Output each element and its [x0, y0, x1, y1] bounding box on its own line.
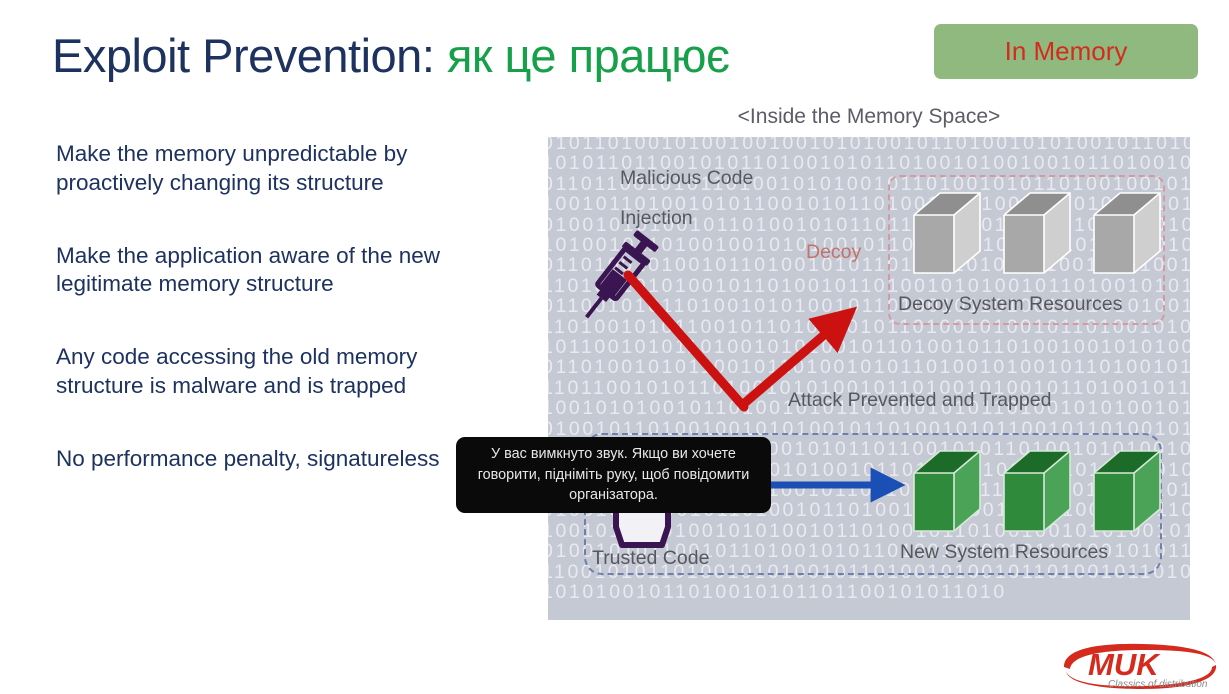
diagram-caption: <Inside the Memory Space> — [548, 105, 1190, 129]
muk-logo-text: MUK — [1088, 647, 1159, 683]
decoy-cube-icon — [1090, 189, 1164, 281]
new-resource-cube-icon — [1000, 447, 1074, 539]
label-trusted-code: Trusted Code — [592, 547, 709, 570]
new-resource-cube-icon — [1090, 447, 1164, 539]
label-decoy-system-resources: Decoy System Resources — [898, 293, 1122, 316]
label-new-system-resources: New System Resources — [900, 541, 1108, 564]
status-badge-label: In Memory — [1005, 36, 1128, 67]
label-decoy: Decoy — [806, 241, 861, 264]
decoy-cube-icon — [1000, 189, 1074, 281]
new-resources-cubes-group — [910, 447, 1164, 539]
muk-logo-tagline: Classics of distribution — [1108, 679, 1207, 690]
bullet-item: Make the application aware of the new le… — [56, 242, 506, 300]
bullet-item: Make the memory unpredictable by proacti… — [56, 140, 506, 198]
bullet-item: No performance penalty, signatureless — [56, 445, 506, 474]
label-attack-prevented: Attack Prevented and Trapped — [788, 389, 1051, 412]
mute-notification-toast: У вас вимкнуто звук. Якщо ви хочете гово… — [456, 437, 771, 513]
status-badge-in-memory: In Memory — [934, 24, 1198, 79]
new-resource-cube-icon — [910, 447, 984, 539]
label-malicious-code: Malicious Code — [620, 167, 753, 190]
decoy-cubes-group — [910, 189, 1164, 281]
page-title: Exploit Prevention: як це працює — [52, 28, 730, 83]
memory-space-diagram: 0101101001010010010010101001011010010101… — [548, 137, 1190, 620]
page-title-accent: як це працює — [447, 29, 730, 82]
bullet-list: Make the memory unpredictable by proacti… — [56, 140, 526, 474]
slide-root: Exploit Prevention: як це працює In Memo… — [0, 0, 1229, 694]
label-injection: Injection — [620, 207, 693, 230]
page-title-main: Exploit Prevention: — [52, 29, 447, 82]
syringe-icon — [572, 222, 664, 337]
mute-notification-message: У вас вимкнуто звук. Якщо ви хочете гово… — [472, 444, 755, 505]
bullet-item: Any code accessing the old memory struct… — [56, 343, 506, 401]
muk-logo: MUK Classics of distribution — [1046, 641, 1229, 694]
decoy-cube-icon — [910, 189, 984, 281]
